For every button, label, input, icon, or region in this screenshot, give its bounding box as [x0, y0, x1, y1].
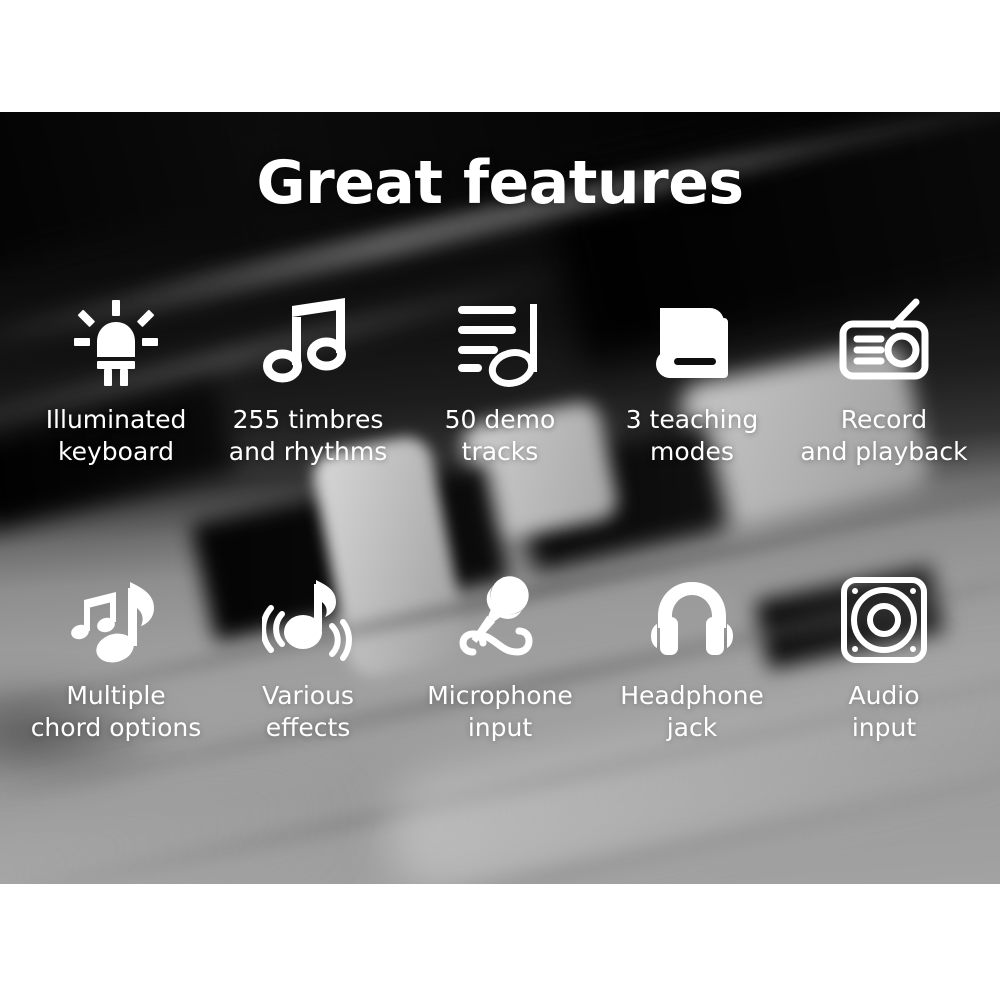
feature-label: Record and playback: [800, 404, 967, 468]
track-list-note-icon: [454, 296, 546, 392]
microphone-icon: [454, 572, 546, 668]
book-icon: [646, 296, 738, 392]
feature-row-2: Multiple chord options: [20, 572, 980, 744]
feature-label: Multiple chord options: [31, 680, 202, 744]
note-with-sound-waves-icon: [262, 572, 354, 668]
feature-row-1: Illuminated keyboard 255 timbres and rhy…: [20, 296, 980, 468]
feature-item-microphone-input: Microphone input: [404, 572, 596, 744]
led-bulb-icon: [70, 296, 162, 392]
feature-item-teaching-modes: 3 teaching modes: [596, 296, 788, 468]
feature-label: Various effects: [262, 680, 354, 744]
feature-item-record-playback: Record and playback: [788, 296, 980, 468]
feature-label: Headphone jack: [620, 680, 764, 744]
beamed-eighth-notes-icon: [262, 296, 354, 392]
feature-item-timbres-rhythms: 255 timbres and rhythms: [212, 296, 404, 468]
speaker-icon: [838, 572, 930, 668]
feature-label: 50 demo tracks: [445, 404, 556, 468]
multiple-notes-icon: [70, 572, 162, 668]
page-title: Great features: [0, 148, 1000, 218]
feature-label: Microphone input: [427, 680, 573, 744]
feature-item-headphone-jack: Headphone jack: [596, 572, 788, 744]
feature-label: Illuminated keyboard: [46, 404, 187, 468]
feature-item-chord-options: Multiple chord options: [20, 572, 212, 744]
promo-banner: Great features I: [0, 0, 1000, 1000]
feature-label: 255 timbres and rhythms: [229, 404, 387, 468]
radio-icon: [838, 296, 930, 392]
feature-item-various-effects: Various effects: [212, 572, 404, 744]
feature-label: 3 teaching modes: [626, 404, 759, 468]
feature-label: Audio input: [848, 680, 919, 744]
headphones-icon: [646, 572, 738, 668]
feature-item-audio-input: Audio input: [788, 572, 980, 744]
feature-item-illuminated-keyboard: Illuminated keyboard: [20, 296, 212, 468]
feature-item-demo-tracks: 50 demo tracks: [404, 296, 596, 468]
